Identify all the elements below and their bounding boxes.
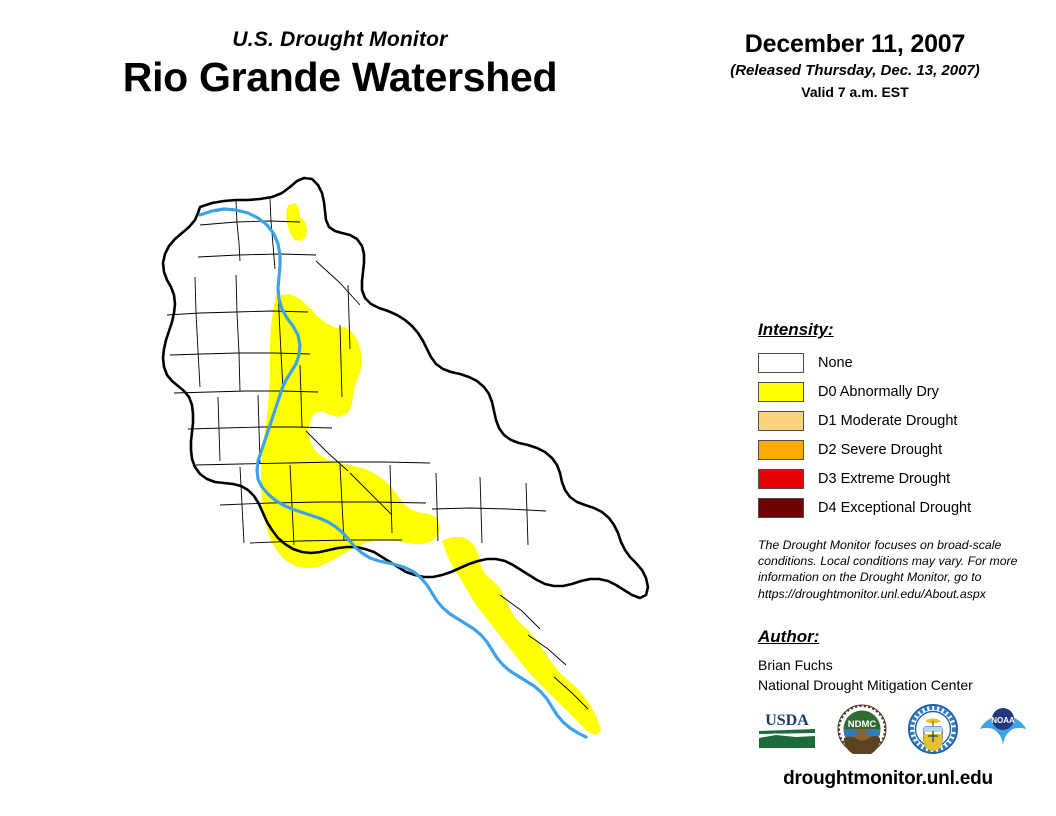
legend-item-d4[interactable]: D4 Exceptional Drought <box>758 494 1020 522</box>
legend-label-d1: D1 Moderate Drought <box>818 414 957 429</box>
legend-heading: Intensity: <box>758 320 1020 340</box>
title-block: U.S. Drought Monitor Rio Grande Watershe… <box>60 28 620 101</box>
author-block: Author: Brian Fuchs National Drought Mit… <box>758 627 1020 696</box>
legend-swatch-d0 <box>758 382 804 402</box>
page-title: Rio Grande Watershed <box>60 53 620 101</box>
valid-time: Valid 7 a.m. EST <box>700 84 1010 101</box>
valid-date: December 11, 2007 <box>700 30 1010 59</box>
author-organization: National Drought Mitigation Center <box>758 676 1020 696</box>
disclaimer-text: The Drought Monitor focuses on broad-sca… <box>758 537 1020 602</box>
legend-swatch-none <box>758 353 804 373</box>
svg-text:NDMC: NDMC <box>848 719 877 730</box>
logo-row: USDA NDMC <box>756 702 1028 760</box>
legend-item-d0[interactable]: D0 Abnormally Dry <box>758 378 1020 406</box>
legend-item-d1[interactable]: D1 Moderate Drought <box>758 407 1020 435</box>
ndmc-logo[interactable]: NDMC <box>837 704 887 759</box>
legend-swatch-d4 <box>758 498 804 518</box>
legend-swatch-d2 <box>758 440 804 460</box>
program-subtitle: U.S. Drought Monitor <box>60 28 620 51</box>
legend-item-d3[interactable]: D3 Extreme Drought <box>758 465 1020 493</box>
legend-label-d0: D0 Abnormally Dry <box>818 385 939 400</box>
svg-text:NOAA: NOAA <box>991 716 1015 725</box>
legend-label-d4: D4 Exceptional Drought <box>818 501 971 516</box>
date-block: December 11, 2007 (Released Thursday, De… <box>700 30 1010 101</box>
release-date: (Released Thursday, Dec. 13, 2007) <box>700 62 1010 80</box>
author-name: Brian Fuchs <box>758 656 1020 676</box>
usda-logo[interactable]: USDA <box>756 707 818 756</box>
legend-label-none: None <box>818 356 853 371</box>
usdc-seal-logo[interactable] <box>907 703 959 760</box>
d0-drought-region <box>261 203 601 735</box>
intensity-legend: Intensity: None D0 Abnormally Dry D1 Mod… <box>758 320 1020 523</box>
author-heading: Author: <box>758 627 1020 647</box>
rio-grande-watershed-map[interactable] <box>140 165 650 790</box>
legend-swatch-d3 <box>758 469 804 489</box>
footer-url[interactable]: droughtmonitor.unl.edu <box>738 768 1038 790</box>
legend-item-none[interactable]: None <box>758 349 1020 377</box>
legend-label-d2: D2 Severe Drought <box>818 443 942 458</box>
legend-swatch-d1 <box>758 411 804 431</box>
noaa-logo[interactable]: NOAA <box>978 705 1028 758</box>
legend-label-d3: D3 Extreme Drought <box>818 472 950 487</box>
svg-text:USDA: USDA <box>765 712 809 729</box>
legend-item-d2[interactable]: D2 Severe Drought <box>758 436 1020 464</box>
